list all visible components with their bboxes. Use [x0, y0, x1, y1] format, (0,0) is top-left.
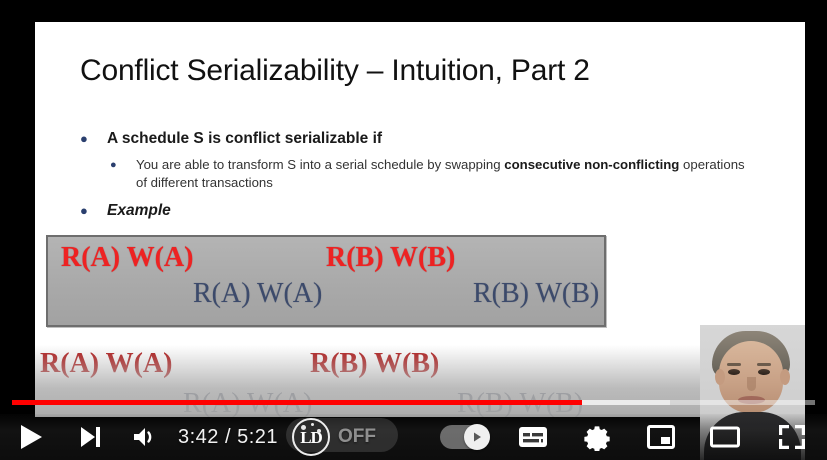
bullet-dot-icon: ●	[80, 131, 88, 146]
ld-dot-1	[301, 425, 306, 430]
schedule2-op-t1-b: R(B) W(B)	[310, 348, 439, 380]
next-video-button[interactable]	[62, 414, 118, 460]
schedule-box: R(A) W(A) R(B) W(B) R(A) W(A) R(B) W(B)	[46, 235, 606, 327]
quality-badge-button[interactable]: LD OFF	[292, 414, 376, 460]
settings-button[interactable]	[565, 414, 629, 460]
play-small-icon	[471, 431, 483, 443]
webcam-ear-left	[715, 369, 725, 385]
progress-bar[interactable]	[12, 400, 815, 405]
page-title: Conflict Serializability – Intuition, Pa…	[80, 54, 760, 88]
webcam-ear-right	[780, 369, 790, 385]
autoplay-toggle[interactable]	[429, 414, 501, 460]
schedule-op-t1-a: R(A) W(A)	[61, 242, 193, 274]
miniplayer-button[interactable]	[629, 414, 693, 460]
schedule-op-t2-a: R(A) W(A)	[193, 278, 322, 310]
webcam-brow-right	[757, 363, 771, 366]
bullet-level2-1: ● You are able to transform S into a ser…	[110, 156, 755, 192]
schedule2-op-t1-a: R(A) W(A)	[40, 348, 172, 380]
quality-badge-state: OFF	[338, 426, 376, 448]
bullet-level1-1: ● A schedule S is conflict serializable …	[80, 130, 382, 148]
play-icon	[18, 423, 44, 451]
bullet-part-bold: consecutive non-conflicting	[504, 157, 679, 172]
theater-button[interactable]	[693, 414, 757, 460]
fullscreen-icon	[778, 424, 806, 450]
bullet-level2-1-text: You are able to transform S into a seria…	[136, 156, 755, 192]
time-display: 3:42 / 5:21	[178, 426, 278, 449]
ld-logo-icon: LD	[292, 418, 330, 456]
bullet-dot-icon: ●	[80, 203, 88, 218]
autoplay-switch[interactable]	[440, 425, 490, 449]
player-controls[interactable]: 3:42 / 5:21 LD OFF	[0, 414, 827, 460]
ld-dot-2	[311, 423, 314, 426]
volume-button[interactable]	[118, 414, 172, 460]
next-icon	[78, 425, 102, 449]
webcam-eye-left	[728, 369, 740, 375]
autoplay-knob	[464, 424, 490, 450]
captions-icon	[518, 426, 548, 448]
bullet-part-plain-a: You are able to transform S into a seria…	[136, 157, 504, 172]
play-button[interactable]	[0, 414, 62, 460]
schedule-op-t1-b: R(B) W(B)	[326, 242, 455, 274]
miniplayer-icon	[647, 425, 675, 449]
progress-played	[12, 400, 582, 405]
schedule-op-t2-b: R(B) W(B)	[473, 278, 599, 310]
webcam-nose	[747, 377, 756, 391]
video-player[interactable]: Conflict Serializability – Intuition, Pa…	[0, 0, 827, 460]
bullet-dot-icon: ●	[110, 156, 117, 174]
captions-button[interactable]	[501, 414, 565, 460]
fullscreen-button[interactable]	[757, 414, 827, 460]
bullet-level1-2-text: Example	[107, 202, 171, 220]
volume-icon	[132, 425, 158, 449]
bullet-level1-1-text: A schedule S is conflict serializable if	[107, 130, 382, 148]
ld-dot-3	[317, 429, 321, 433]
theater-icon	[710, 425, 740, 449]
gear-icon	[583, 423, 611, 451]
bullet-level1-2: ● Example	[80, 202, 171, 220]
webcam-eye-right	[758, 369, 770, 375]
webcam-brow-left	[727, 363, 741, 366]
slide-content: Conflict Serializability – Intuition, Pa…	[35, 22, 805, 417]
